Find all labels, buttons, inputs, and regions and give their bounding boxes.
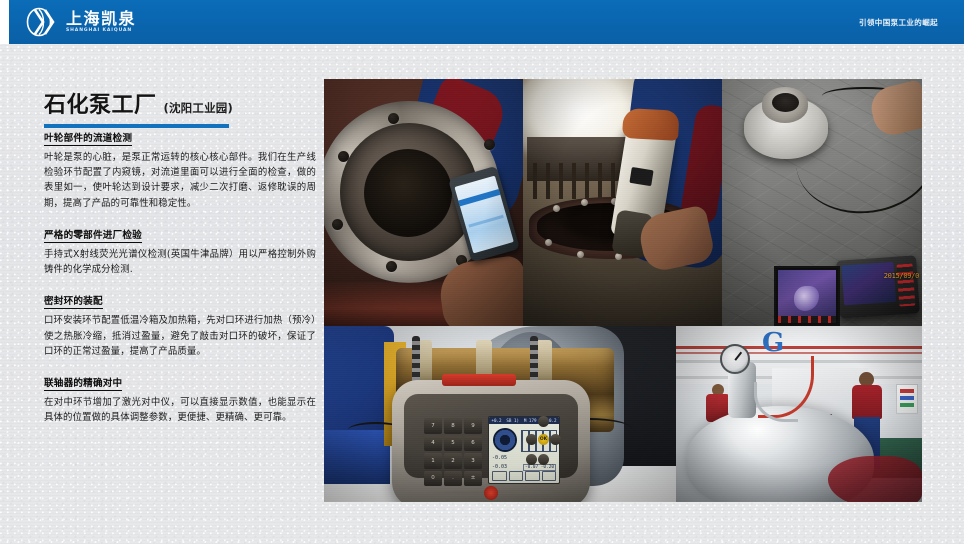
- logo-text-en: SHANGHAI KAIQUAN: [66, 29, 136, 34]
- page-header: 上海凯泉 SHANGHAI KAIQUAN 引领中国泵工业的崛起: [0, 0, 964, 44]
- brand-logo[interactable]: 上海凯泉 SHANGHAI KAIQUAN: [26, 6, 136, 38]
- slide-canvas: 上海凯泉 SHANGHAI KAIQUAN 引领中国泵工业的崛起 石化泵工厂 (…: [0, 0, 964, 544]
- section-heading: 密封环的装配: [44, 293, 103, 309]
- photo-workshop-tank: G: [676, 326, 922, 502]
- photo-xrf-analyzer: 手持式X射线荧光光谱仪检测泵壳材质: [523, 79, 722, 326]
- photo-row-bottom: 7 8 9 4 5 6 1 2 3 0 . ±: [324, 326, 922, 502]
- photo-flange-inspection: 技师手持平板检测泵体法兰端面: [324, 79, 523, 326]
- photo-grid: 技师手持平板检测泵体法兰端面: [324, 79, 922, 502]
- photo-laser-alignment: 7 8 9 4 5 6 1 2 3 0 . ±: [324, 326, 676, 502]
- left-content-column: 石化泵工厂 (沈阳工业园) 叶轮部件的流道检测 叶轮是泵的心脏，是泵正常运转的核…: [0, 44, 324, 544]
- section-body: 在对中环节增加了激光对中仪，可以直接显示数值，也能显示在具体的位置做的具体调整参…: [44, 395, 316, 425]
- section-seal-ring-assembly: 密封环的装配 口环安装环节配置低温冷箱及加热箱，先对口环进行加热（预冷）使之热胀…: [44, 289, 316, 359]
- header-slogan: 引领中国泵工业的崛起: [859, 0, 938, 44]
- page-title-sub: (沈阳工业园): [164, 100, 233, 116]
- logo-text-cn: 上海凯泉: [66, 11, 136, 27]
- photo-borescope: 2015/09/0 内窥镜检测叶轮流道: [722, 79, 922, 326]
- section-body: 叶轮是泵的心脏，是泵正常运转的核心核心部件。我们在生产线检验环节配置了内窥镜，对…: [44, 150, 316, 211]
- page-title-main: 石化泵工厂: [44, 87, 157, 119]
- section-heading: 严格的零部件进厂检验: [44, 227, 142, 243]
- section-body: 手持式X射线荧光光谱仪检测(英国牛津品牌）用以严格控制外购铸件的化学成分检测.: [44, 247, 316, 277]
- section-body: 口环安装环节配置低温冷箱及加热箱，先对口环进行加热（预冷）使之热胀冷缩，抵消过盈…: [44, 313, 316, 359]
- kaiquan-logo-icon: [26, 7, 60, 37]
- header-left-notch: [0, 0, 9, 44]
- section-impeller-flow-inspection: 叶轮部件的流道检测 叶轮是泵的心脏，是泵正常运转的核心核心部件。我们在生产线检验…: [44, 126, 316, 211]
- section-heading: 联轴器的精确对中: [44, 375, 122, 391]
- section-incoming-part-inspection: 严格的零部件进厂检验 手持式X射线荧光光谱仪检测(英国牛津品牌）用以严格控制外购…: [44, 223, 316, 277]
- body-sections: 叶轮部件的流道检测 叶轮是泵的心脏，是泵正常运转的核心核心部件。我们在生产线检验…: [44, 126, 316, 438]
- section-coupling-alignment: 联轴器的精确对中 在对中环节增加了激光对中仪，可以直接显示数值，也能显示在具体的…: [44, 371, 316, 425]
- photo-row-top: 技师手持平板检测泵体法兰端面: [324, 79, 922, 326]
- section-heading: 叶轮部件的流道检测: [44, 130, 132, 146]
- page-title: 石化泵工厂 (沈阳工业园): [44, 87, 314, 128]
